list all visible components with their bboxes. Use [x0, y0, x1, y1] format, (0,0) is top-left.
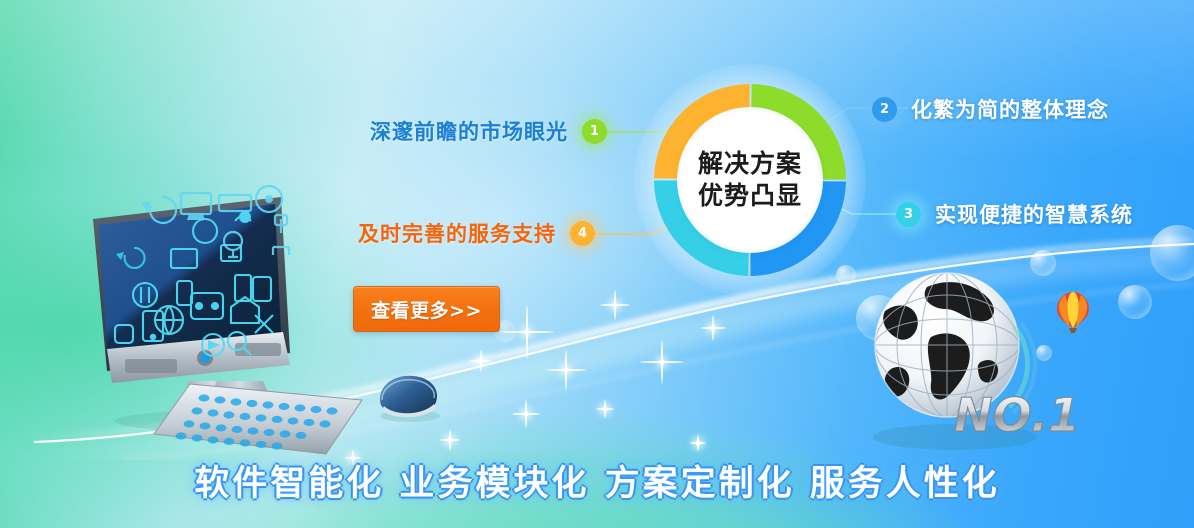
view-more-label: 查看更多>> [371, 296, 482, 323]
callout-2-badge: 2 [872, 97, 897, 122]
no1-badge-illustration: NO.1 [950, 385, 1080, 447]
svg-text:NO.1: NO.1 [954, 388, 1080, 442]
callout-1-badge: 1 [582, 119, 607, 144]
mouse-illustration [370, 370, 446, 424]
donut-title-line2: 优势凸显 [698, 180, 802, 213]
callout-4-text: 及时完善的服务支持 [358, 218, 556, 248]
callout-4[interactable]: 及时完善的服务支持 4 [358, 218, 595, 248]
sparkle-icon [512, 400, 540, 428]
callout-3-text: 实现便捷的智慧系统 [935, 199, 1133, 229]
sparkle-icon [596, 400, 614, 418]
bubble-decoration [1150, 225, 1194, 281]
sparkle-icon [640, 340, 684, 384]
callout-2-text: 化繁为简的整体理念 [911, 94, 1109, 124]
sparkle-icon [500, 305, 554, 359]
sparkle-icon [440, 430, 460, 450]
sparkle-icon [690, 435, 706, 451]
hot-air-balloon-icon [1055, 290, 1091, 338]
solution-donut-chart: 解决方案 优势凸显 [650, 80, 850, 280]
view-more-button[interactable]: 查看更多>> [353, 286, 500, 332]
callout-1-text: 深邃前瞻的市场眼光 [370, 116, 568, 146]
banner-stage: NO.1 解决方案 优势 [0, 0, 1194, 528]
callout-3[interactable]: 3 实现便捷的智慧系统 [896, 199, 1133, 229]
donut-center-label: 解决方案 优势凸显 [681, 111, 819, 249]
callout-2[interactable]: 2 化繁为简的整体理念 [872, 94, 1109, 124]
sparkle-icon [546, 350, 586, 390]
callout-3-badge: 3 [896, 202, 921, 227]
donut-title-line1: 解决方案 [698, 148, 802, 181]
sparkle-icon [600, 290, 630, 320]
sparkle-icon [700, 315, 726, 341]
banner-tagline: 软件智能化 业务模块化 方案定制化 服务人性化 [0, 455, 1194, 506]
keyboard-illustration [150, 380, 365, 458]
bubble-decoration [1118, 285, 1152, 319]
callout-4-badge: 4 [570, 221, 595, 246]
callout-1[interactable]: 深邃前瞻的市场眼光 1 [370, 116, 607, 146]
sparkle-icon [470, 350, 492, 372]
